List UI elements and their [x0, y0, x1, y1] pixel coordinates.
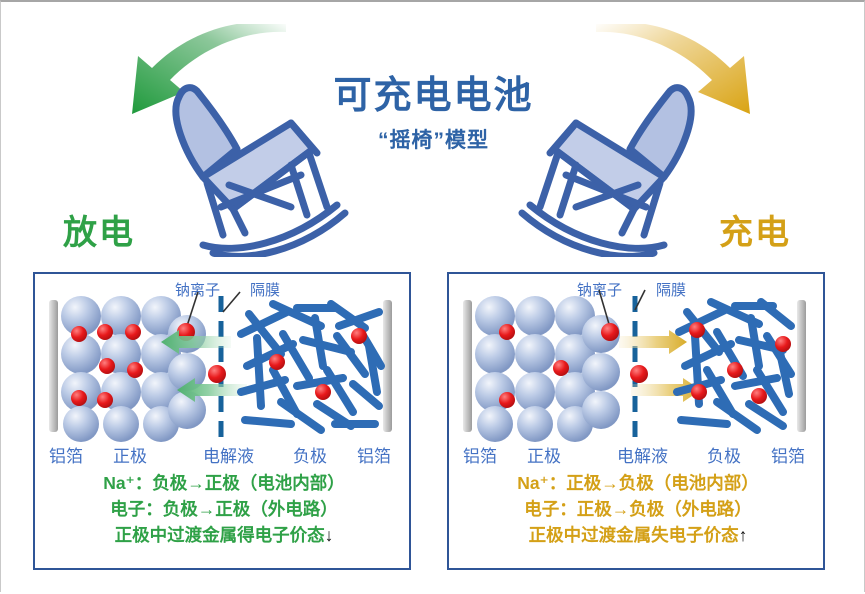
- charge-label: 充电: [719, 205, 791, 254]
- reaction-text-discharge: Na⁺：负极→正极（电池内部） 电子：负极→正极（外电路） 正极中过渡金属得电子…: [35, 470, 413, 548]
- charge-panel: 钠离子 隔膜: [447, 272, 825, 570]
- reaction-text-charge: Na⁺：正极→负极（电池内部） 电子：正极→负极（外电路） 正极中过渡金属失电子…: [449, 470, 827, 548]
- valence-arrow-up: ↑: [739, 525, 748, 545]
- battery-cell-diagram-charge: [449, 274, 823, 454]
- component-label-electrolyte: 电解液: [617, 442, 668, 467]
- page-subtitle: “摇椅”模型: [1, 124, 865, 154]
- reaction-line-valence: 正极中过渡金属得电子价态↓: [35, 522, 413, 548]
- component-label-row-discharge: 铝箔 正极 电解液 负极 铝箔: [35, 442, 413, 468]
- component-label-collector-right: 铝箔: [771, 442, 805, 467]
- battery-cell-diagram-discharge: [35, 274, 409, 454]
- component-label-electrolyte: 电解液: [203, 442, 254, 467]
- reaction-valence-text: 正极中过渡金属失电子价态: [529, 525, 739, 545]
- current-collector-left: [463, 300, 472, 432]
- valence-arrow-down: ↓: [325, 525, 334, 545]
- reaction-valence-text: 正极中过渡金属得电子价态: [115, 525, 325, 545]
- anode-rod-network: [241, 304, 381, 430]
- cathode-sphere-lattice: [475, 296, 620, 442]
- component-label-anode: 负极: [707, 442, 741, 467]
- reaction-line-valence: 正极中过渡金属失电子价态↑: [449, 522, 827, 548]
- discharge-label: 放电: [63, 205, 135, 254]
- page-title: 可充电电池: [1, 64, 865, 119]
- reaction-line-ion: Na⁺：正极→负极（电池内部）: [449, 470, 827, 496]
- component-label-cathode: 正极: [113, 442, 147, 467]
- component-label-anode: 负极: [293, 442, 327, 467]
- slide-canvas: 可充电电池 “摇椅”模型 放电 充电 钠离子 隔膜: [1, 2, 865, 594]
- reaction-line-ion: Na⁺：负极→正极（电池内部）: [35, 470, 413, 496]
- component-label-collector-right: 铝箔: [357, 442, 391, 467]
- component-label-row-charge: 铝箔 正极 电解液 负极 铝箔: [449, 442, 827, 468]
- reaction-line-electron: 电子：正极→负极（外电路）: [449, 496, 827, 522]
- component-label-collector-left: 铝箔: [463, 442, 497, 467]
- component-label-cathode: 正极: [527, 442, 561, 467]
- component-label-collector-left: 铝箔: [49, 442, 83, 467]
- reaction-line-electron: 电子：负极→正极（外电路）: [35, 496, 413, 522]
- current-collector-left: [49, 300, 58, 432]
- current-collector-right: [797, 300, 806, 432]
- discharge-panel: 钠离子 隔膜: [33, 272, 411, 570]
